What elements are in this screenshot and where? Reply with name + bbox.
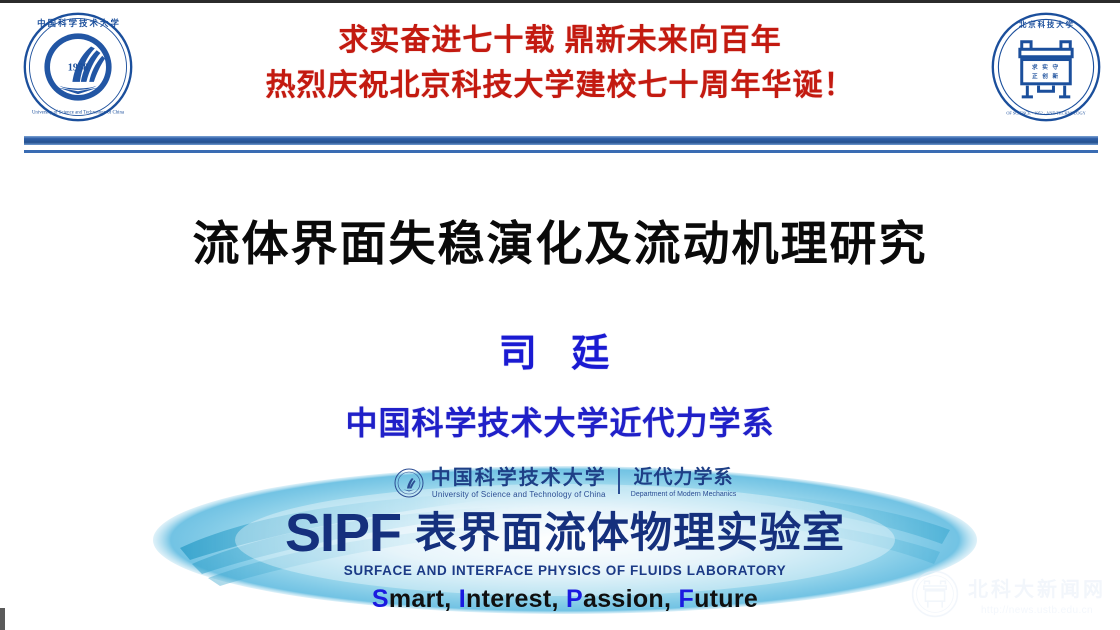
motto-word: nterest, [466,585,566,613]
svg-text:守: 守 [1053,63,1059,71]
motto-word: mart, [389,585,459,613]
author-affiliation: 中国科学技术大学近代力学系 [0,398,1120,444]
ustb-seal-icon: 求实 守正 创新 北 京 科 技 大 学 OF SCIENCE · 1952 ·… [990,11,1102,123]
svg-text:正: 正 [1032,73,1038,80]
news-site-watermark: 北科大新闻网 http://news.ustb.edu.cn [911,570,1106,618]
svg-text:北 京 科 技 大 学: 北 京 科 技 大 学 [1019,19,1074,29]
watermark-url: http://news.ustb.edu.cn [981,605,1093,616]
ustc-department-lockup: 中国科学技术大学 University of Science and Techn… [150,466,980,500]
sipf-wordmark: SIPF 表界面流体物理实验室 [150,506,980,560]
sipf-acronym: SIPF [285,506,401,560]
presentation-slide: 1958 中 国 科 学 技 术 大 学 University of Scien… [0,0,1120,630]
lab-name-en: SURFACE AND INTERFACE PHYSICS OF FLUIDS … [150,563,980,578]
department-name-cn: 近代力学系 [633,468,733,487]
department-name-en: Department of Modern Mechanics [631,491,736,498]
motto-word: uture [694,585,758,613]
lab-name-cn: 表界面流体物理实验室 [415,512,845,554]
banner-line-1: 求实奋进七十载 鼎新未来向百年 [160,23,960,58]
ustc-mini-seal-icon [394,468,424,498]
banner-line-2: 热烈庆祝北京科技大学建校七十周年华诞！ [160,68,960,103]
author-name: 司 廷 [0,322,1120,377]
page-title: 流体界面失稳演化及流动机理研究 [0,205,1120,274]
lockup-divider [618,468,620,494]
svg-text:OF SCIENCE · 1952 · AND TECHNO: OF SCIENCE · 1952 · AND TECHNOLOGY [1006,111,1085,116]
svg-text:中 国 科 学 技 术 大 学: 中 国 科 学 技 术 大 学 [37,18,119,28]
svg-text:实: 实 [1042,63,1048,71]
ustc-name-en: University of Science and Technology of … [432,491,606,499]
watermark-text-cn: 北科大新闻网 [968,573,1106,602]
svg-text:University of Science and Tech: University of Science and Technology of … [32,111,125,116]
svg-text:1958: 1958 [68,63,89,74]
motto-initial: P [566,585,583,613]
watermark-seal-icon [911,570,959,618]
ustc-name-cn: 中国科学技术大学 [431,468,607,488]
header-divider-thin [24,150,1098,153]
motto-word: assion, [583,585,679,613]
lab-logo-block: 中国科学技术大学 University of Science and Techn… [150,452,980,624]
motto-initial: F [679,585,695,613]
anniversary-banner: 求实奋进七十载 鼎新未来向百年 热烈庆祝北京科技大学建校七十周年华诞！ [160,13,960,104]
svg-text:创: 创 [1041,72,1048,80]
header-divider-thick [24,136,1098,145]
slide-bottom-left-border [0,608,5,630]
svg-text:求: 求 [1032,63,1038,71]
svg-text:新: 新 [1053,72,1059,80]
lab-motto: Smart, Interest, Passion, Future [150,585,980,614]
ustc-seal-icon: 1958 中 国 科 学 技 术 大 学 University of Scien… [22,11,134,123]
motto-initial: S [372,585,389,613]
slide-header: 1958 中 国 科 学 技 术 大 学 University of Scien… [0,3,1120,128]
motto-initial: I [459,585,466,613]
